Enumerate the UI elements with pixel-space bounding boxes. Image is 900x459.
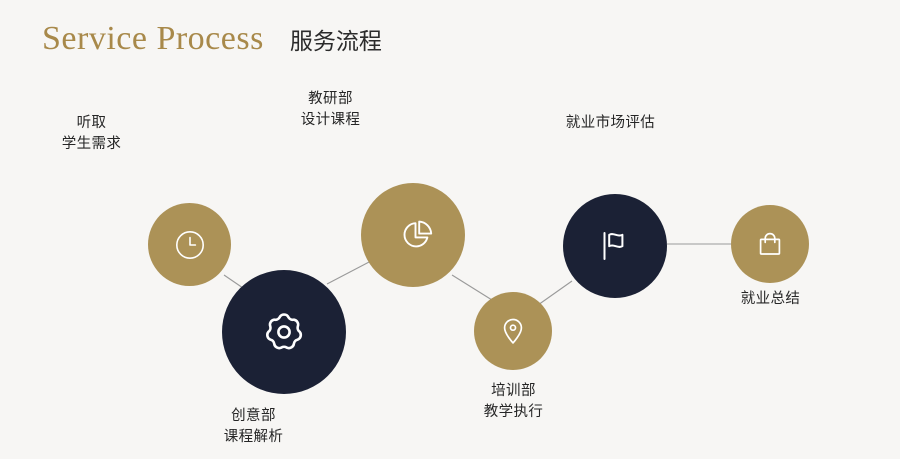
connector-4-5: [538, 281, 572, 305]
step-label-6: 就业总结: [678, 289, 863, 310]
slide-canvas: Service Process 服务流程: [0, 0, 900, 459]
step-node-gear[interactable]: [222, 270, 346, 394]
step-node-clock[interactable]: [148, 203, 231, 286]
step-label-5: 就业市场评估: [514, 113, 707, 134]
shopping-bag-icon: [753, 227, 787, 261]
step-node-map-pin[interactable]: [474, 292, 552, 370]
gear-icon: [258, 306, 310, 358]
connector-2-3: [327, 261, 371, 284]
flag-icon: [592, 223, 638, 269]
clock-icon: [173, 228, 207, 262]
step-label-2: 创意部 课程解析: [161, 406, 346, 448]
step-node-flag[interactable]: [563, 194, 667, 298]
step-node-pie-chart[interactable]: [361, 183, 465, 287]
map-pin-icon: [496, 314, 530, 348]
step-node-shopping-bag[interactable]: [731, 205, 809, 283]
step-label-4: 培训部 教学执行: [421, 381, 606, 423]
step-label-3: 教研部 设计课程: [238, 89, 423, 131]
pie-chart-icon: [390, 212, 436, 258]
step-label-1: 听取 学生需求: [29, 113, 154, 155]
connector-1-2: [224, 275, 243, 288]
connector-3-4: [452, 275, 492, 300]
